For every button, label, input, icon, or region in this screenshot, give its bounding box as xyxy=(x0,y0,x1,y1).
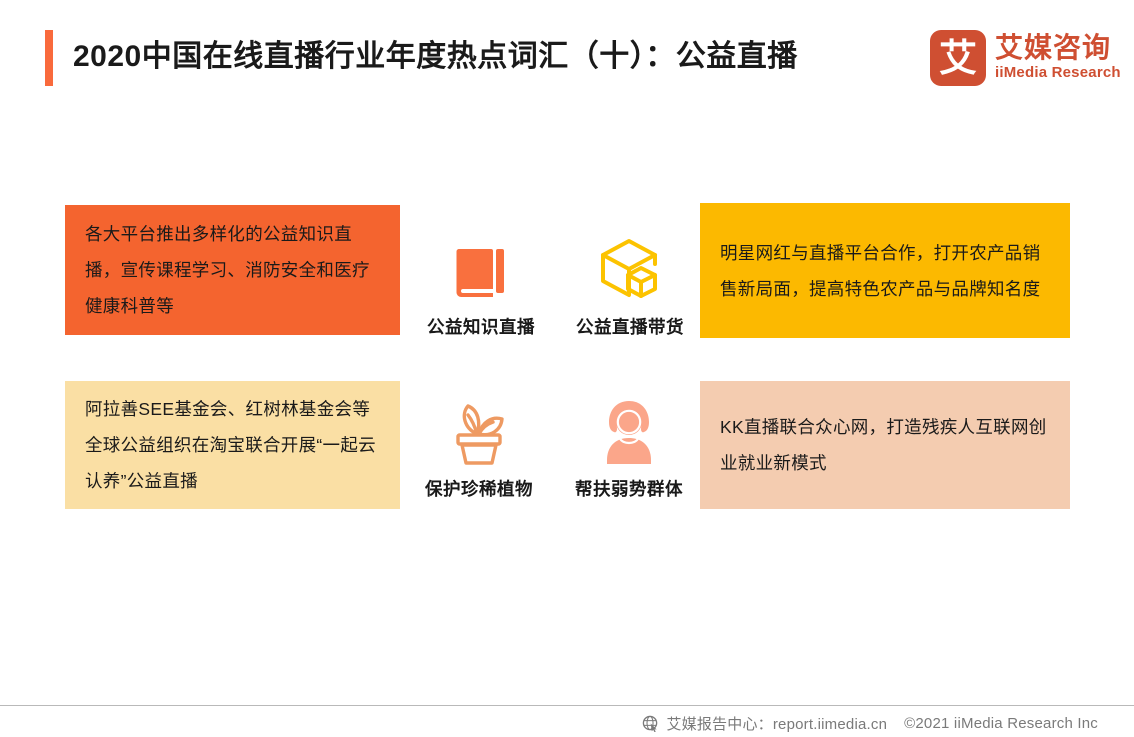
content-card-foundation-adoption: 阿拉善SEE基金会、红树林基金会等全球公益组织在淘宝联合开展“一起云认养”公益直… xyxy=(65,381,400,509)
icon-label: 保护珍稀植物 xyxy=(425,476,533,501)
content-card-celebrity-agriculture: 明星网红与直播平台合作，打开农产品销售新局面，提高特色农产品与品牌知名度 xyxy=(700,203,1070,338)
person-icon xyxy=(596,390,662,466)
icon-label: 公益直播带货 xyxy=(576,314,684,339)
icon-cell-livestream-commerce: 公益直播带货 xyxy=(566,228,694,339)
footer-divider xyxy=(0,705,1134,706)
footer-report-center: 艾媒报告中心：report.iimedia.cn xyxy=(666,713,887,734)
box-icon xyxy=(595,228,665,304)
icon-cell-protect-plants: 保护珍稀植物 xyxy=(415,390,543,501)
footer-copyright: ©2021 iiMedia Research Inc xyxy=(904,715,1098,732)
icon-label: 公益知识直播 xyxy=(427,314,535,339)
card-text: 阿拉善SEE基金会、红树林基金会等全球公益组织在淘宝联合开展“一起云认养”公益直… xyxy=(85,391,380,499)
content-card-knowledge-livestream: 各大平台推出多样化的公益知识直播，宣传课程学习、消防安全和医疗健康科普等 xyxy=(65,205,400,335)
icon-label: 帮扶弱势群体 xyxy=(575,476,683,501)
book-icon xyxy=(449,228,513,304)
card-text: 各大平台推出多样化的公益知识直播，宣传课程学习、消防安全和医疗健康科普等 xyxy=(85,216,380,324)
content-card-kk-disability: KK直播联合众心网，打造残疾人互联网创业就业新模式 xyxy=(700,381,1070,509)
card-text: KK直播联合众心网，打造残疾人互联网创业就业新模式 xyxy=(720,409,1050,481)
icon-cell-knowledge-livestream: 公益知识直播 xyxy=(417,228,545,339)
page-footer: 艾媒报告中心：report.iimedia.cn ©2021 iiMedia R… xyxy=(0,710,1134,737)
card-text: 明星网红与直播平台合作，打开农产品销售新局面，提高特色农产品与品牌知名度 xyxy=(720,235,1050,307)
content-board: 各大平台推出多样化的公益知识直播，宣传课程学习、消防安全和医疗健康科普等 明星网… xyxy=(0,0,1134,737)
globe-cursor-icon xyxy=(642,715,659,732)
plant-icon xyxy=(446,390,512,466)
icon-cell-help-disadvantaged: 帮扶弱势群体 xyxy=(565,390,693,501)
